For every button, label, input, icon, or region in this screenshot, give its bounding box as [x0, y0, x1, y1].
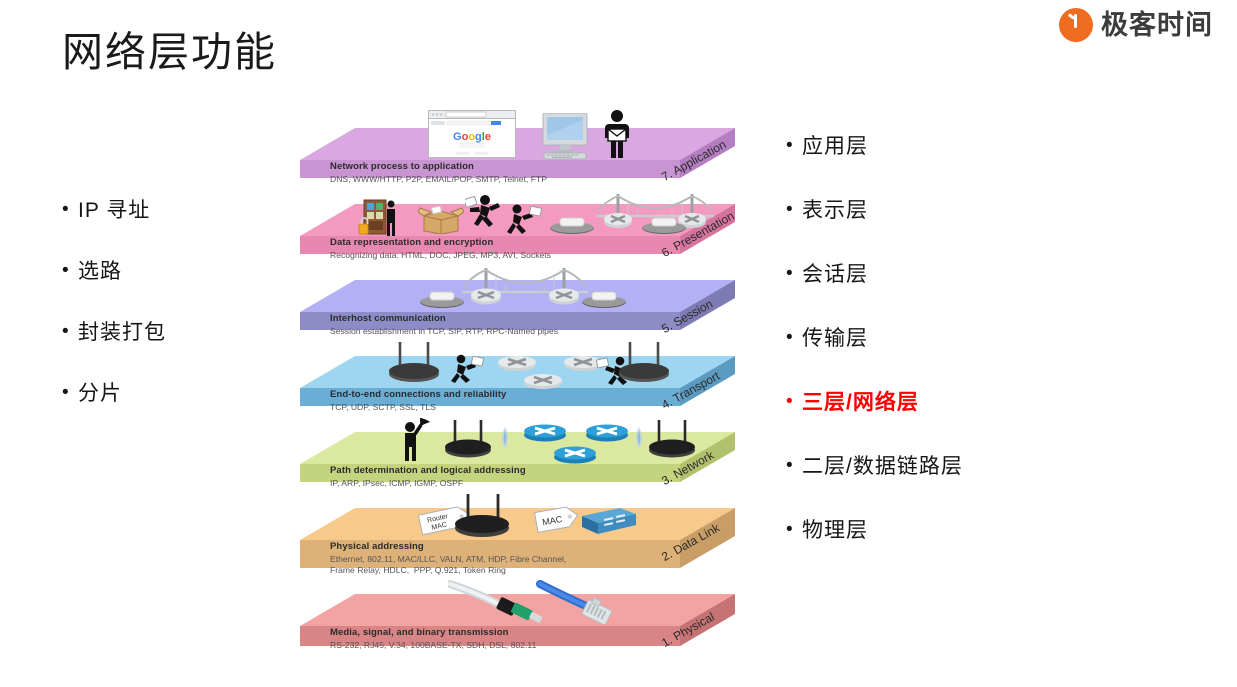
left-bullet-list: • IP 寻址 • 选路 • 封装打包 • 分片 [62, 200, 166, 444]
osi-layer-diagram: Google [300, 108, 740, 564]
bullet-dot: • [786, 200, 802, 219]
bullet-dot: • [786, 136, 802, 155]
list-item-label: 三层/网络层 [802, 392, 919, 413]
list-item-label: 表示层 [802, 200, 868, 221]
osi-layer-network: Path determination and logical addressin… [300, 412, 740, 490]
layer-subtitle: Ethernet, 802.11, MAC/LLC, VALN, ATM, HD… [330, 554, 566, 576]
layer-title: Interhost communication [330, 313, 446, 324]
layer-title: Data representation and encryption [330, 237, 493, 248]
bullet-dot: • [786, 328, 802, 347]
list-item: • 封装打包 [62, 322, 166, 343]
layer-title: End-to-end connections and reliability [330, 389, 506, 400]
bullet-dot: • [786, 456, 802, 475]
layer-title: Media, signal, and binary transmission [330, 627, 509, 638]
osi-layer-application: Google [300, 108, 740, 186]
right-bullet-list: • 应用层 • 表示层 • 会话层 • 传输层 • 三层/网络层 • 二层/数据… [786, 136, 963, 584]
list-item-label: 分片 [78, 383, 122, 404]
bullet-dot: • [786, 520, 802, 539]
list-item-label: 选路 [78, 261, 122, 282]
list-item-label: 二层/数据链路层 [802, 456, 963, 477]
bullet-dot: • [62, 261, 78, 280]
page-title: 网络层功能 [62, 32, 277, 73]
bullet-dot: • [62, 200, 78, 219]
list-item-label: 会话层 [802, 264, 868, 285]
osi-layer-transport: End-to-end connections and reliability T… [300, 336, 740, 414]
list-item: • 会话层 [786, 264, 963, 285]
list-item: • 二层/数据链路层 [786, 456, 963, 477]
osi-layer-physical: Media, signal, and binary transmission R… [300, 574, 740, 654]
list-item: • IP 寻址 [62, 200, 166, 221]
brand-logo: 极客时间 [1059, 8, 1213, 42]
list-item: • 选路 [62, 261, 166, 282]
list-item-label: 物理层 [802, 520, 868, 541]
osi-layer-presentation: Data representation and encryption Recog… [300, 184, 740, 262]
geek-time-logo-icon [1059, 8, 1093, 42]
layer-subtitle: RS-232, RJ45, V.34, 100BASE-TX, SDH, DSL… [330, 640, 536, 651]
list-item-highlighted: • 三层/网络层 [786, 392, 963, 413]
list-item: • 物理层 [786, 520, 963, 541]
svg-text:Google: Google [453, 131, 491, 143]
bullet-dot: • [62, 322, 78, 341]
list-item: • 应用层 [786, 136, 963, 157]
osi-layer-session: Interhost communication Session establis… [300, 260, 740, 338]
list-item-label: 封装打包 [78, 322, 166, 343]
brand-name: 极客时间 [1101, 12, 1213, 39]
layer-title: Network process to application [330, 161, 474, 172]
osi-layer-data-link: Router MAC MAC [300, 488, 740, 576]
bullet-dot: • [62, 383, 78, 402]
list-item: • 传输层 [786, 328, 963, 349]
list-item-label: 应用层 [802, 136, 868, 157]
bullet-dot: • [786, 264, 802, 283]
layer-title: Path determination and logical addressin… [330, 465, 526, 476]
layer-title: Physical addressing [330, 541, 424, 552]
logo-tail-shape [1070, 32, 1082, 43]
bullet-dot: • [786, 392, 802, 411]
list-item: • 分片 [62, 383, 166, 404]
list-item-label: IP 寻址 [78, 200, 150, 221]
list-item-label: 传输层 [802, 328, 868, 349]
list-item: • 表示层 [786, 200, 963, 221]
